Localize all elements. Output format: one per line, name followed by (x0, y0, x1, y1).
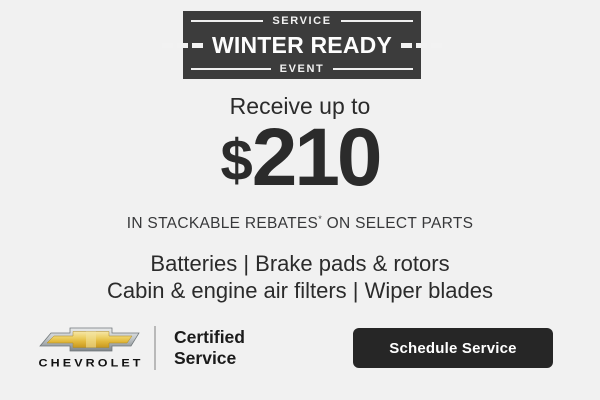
advertisement-banner: SERVICE WINTER READY EVENT Receive up to… (0, 0, 600, 400)
amount-value: 210 (252, 112, 380, 203)
chevrolet-logo: CHEVROLET (36, 327, 146, 370)
dash-icon (431, 43, 442, 48)
chevrolet-wordmark: CHEVROLET (39, 358, 144, 369)
badge-kicker-bottom-row: EVENT (183, 59, 421, 79)
parts-line-2: Cabin & engine air filters | Wiper blade… (0, 277, 600, 304)
footnote-marker: * (318, 214, 322, 224)
certified-line-2: Service (174, 348, 245, 369)
certified-service-label: Certified Service (174, 327, 245, 369)
parts-line-1: Batteries | Brake pads & rotors (0, 250, 600, 277)
badge-kicker-bottom-label: EVENT (271, 64, 334, 75)
winter-ready-event-badge: SERVICE WINTER READY EVENT (183, 11, 421, 79)
dash-icon (401, 43, 412, 48)
rebates-text-suffix: ON SELECT PARTS (327, 215, 474, 232)
badge-title-label: WINTER READY (203, 34, 401, 57)
badge-dashes-right (401, 43, 442, 48)
badge-kicker-top-label: SERVICE (263, 16, 340, 27)
badge-rule-left (191, 20, 263, 22)
dash-icon (162, 43, 173, 48)
currency-symbol: $ (220, 128, 251, 193)
brand-lockup: CHEVROLET Certified Service (36, 326, 245, 370)
brand-divider (154, 326, 156, 370)
eligible-parts-list: Batteries | Brake pads & rotors Cabin & … (0, 250, 600, 304)
badge-title-row: WINTER READY (183, 31, 421, 59)
chevrolet-bowtie-icon (37, 327, 145, 353)
badge-dashes-left (162, 43, 203, 48)
rebates-text: IN STACKABLE REBATES (127, 215, 318, 232)
rebates-disclaimer-line: IN STACKABLE REBATES* ON SELECT PARTS (0, 215, 600, 232)
badge-rule-right (341, 20, 413, 22)
certified-line-1: Certified (174, 327, 245, 348)
badge-kicker-top-row: SERVICE (183, 11, 421, 31)
offer-amount: $210 (0, 117, 600, 199)
dash-icon (177, 43, 188, 48)
badge-rule-right (333, 68, 413, 70)
schedule-service-button[interactable]: Schedule Service (353, 328, 553, 368)
dash-icon (192, 43, 203, 48)
dash-icon (416, 43, 427, 48)
badge-rule-left (191, 68, 271, 70)
